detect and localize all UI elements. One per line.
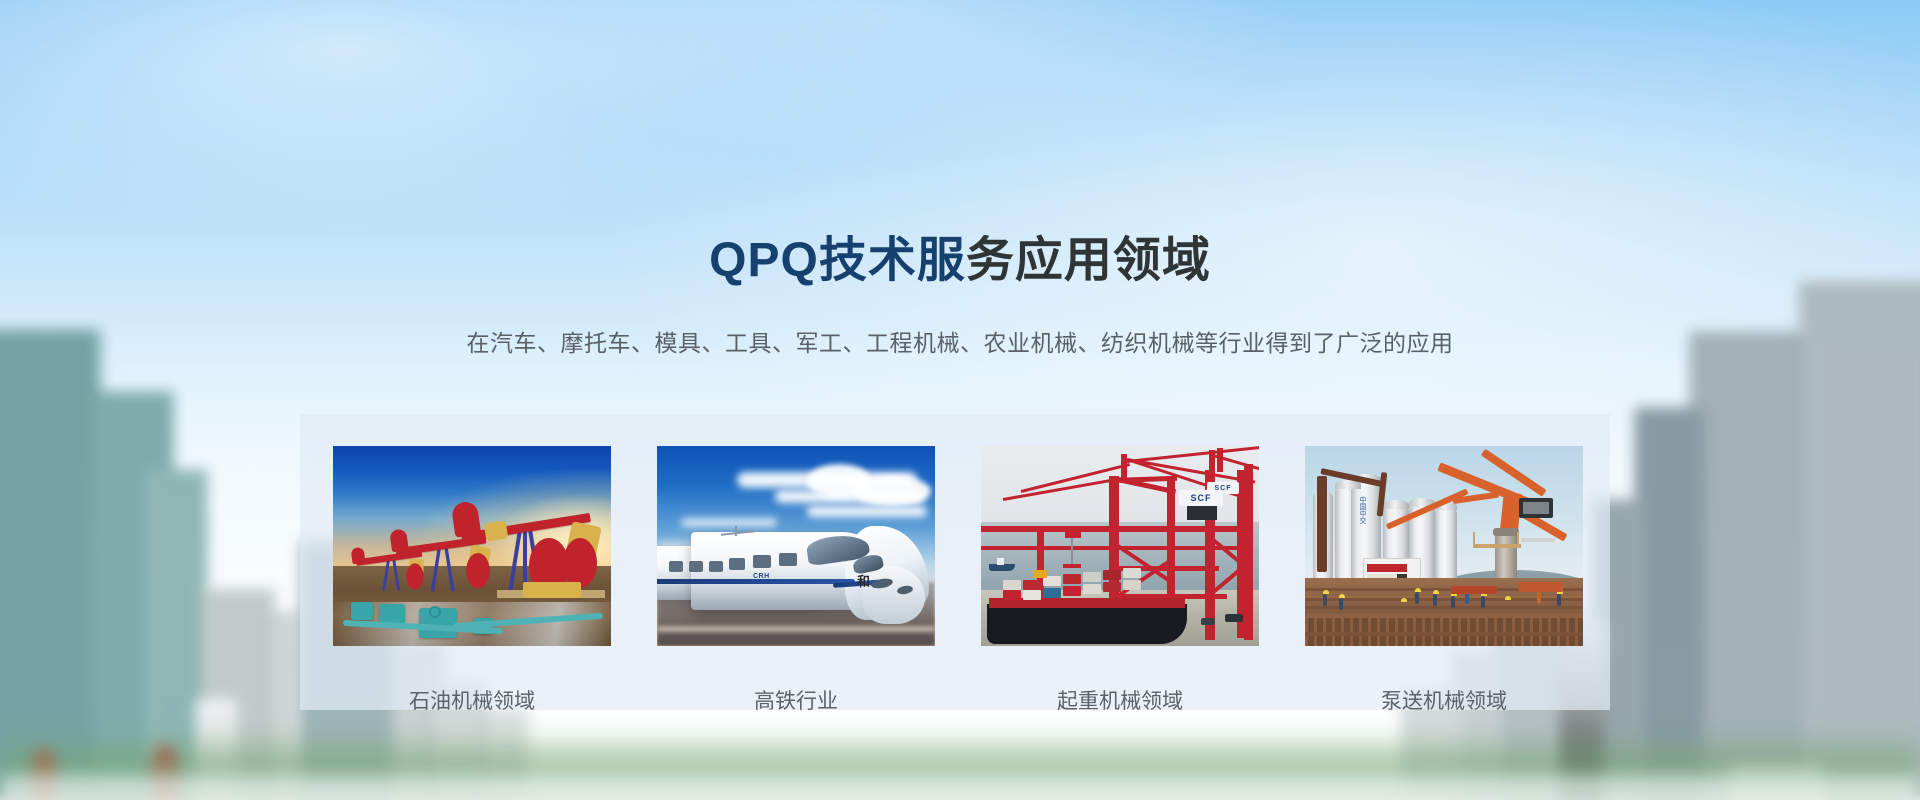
port-cranes-illustration: SCF SCF <box>981 446 1259 646</box>
crane-scf-logo-2: SCF <box>1207 482 1239 494</box>
card-caption: 高铁行业 <box>657 646 935 712</box>
port-container-cranes-photo[interactable]: SCF SCF <box>981 446 1259 646</box>
list-item[interactable]: 中国中交 <box>1305 446 1583 646</box>
concrete-pump-site-photo[interactable]: 中国中交 <box>1305 446 1583 646</box>
page-title: QPQ技术服务应用领域 <box>0 236 1920 286</box>
high-speed-train-photo[interactable]: CRH 和 <box>657 446 935 646</box>
card-list: CRH 和 <box>333 446 1577 646</box>
list-item[interactable] <box>333 446 611 646</box>
hero-content: QPQ技术服务应用领域 在汽车、摩托车、模具、工具、军工、工程机械、农业机械、纺… <box>0 0 1920 800</box>
concrete-pump-illustration: 中国中交 <box>1305 446 1583 646</box>
oil-field-illustration <box>333 446 611 646</box>
page-title-dark-part: 务应用领域 <box>966 234 1211 287</box>
page-subtitle: 在汽车、摩托车、模具、工具、军工、工程机械、农业机械、纺织机械等行业得到了广泛的… <box>0 324 1920 358</box>
card-caption: 泵送机械领域 <box>1305 646 1583 712</box>
card-caption: 起重机械领域 <box>981 646 1259 712</box>
list-item[interactable]: SCF SCF <box>981 446 1259 646</box>
high-speed-train-illustration: CRH 和 <box>657 446 935 646</box>
oil-pumpjacks-photo[interactable] <box>333 446 611 646</box>
card-caption: 石油机械领域 <box>333 646 611 712</box>
train-crh-mark: CRH <box>753 573 770 580</box>
list-item[interactable]: CRH 和 <box>657 446 935 646</box>
page-title-blue-part: QPQ技术服 <box>709 234 966 287</box>
